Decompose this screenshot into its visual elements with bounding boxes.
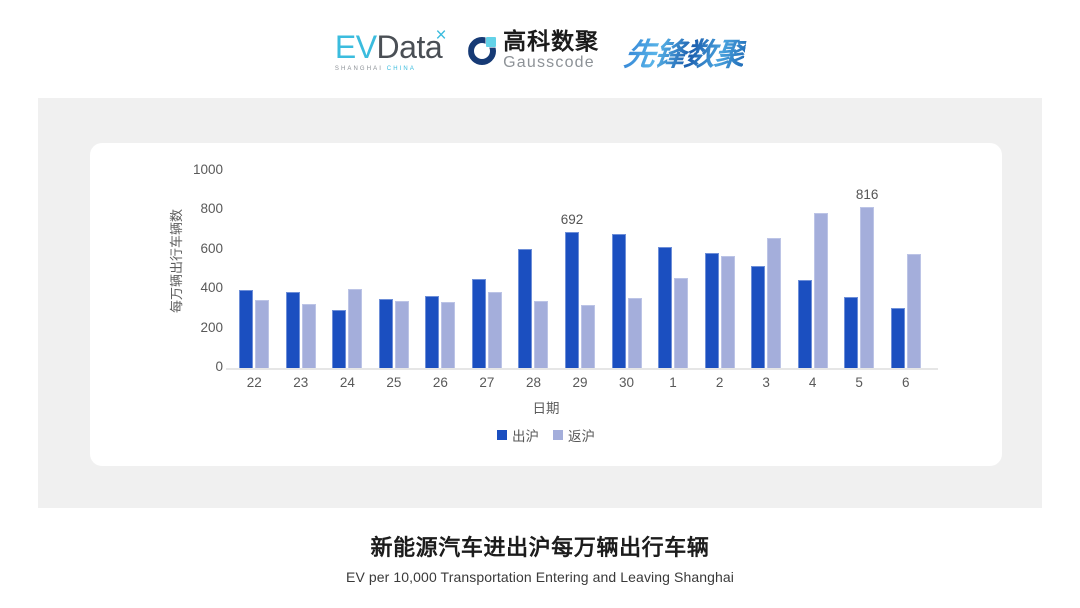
bar-groups: 692816 — [231, 171, 929, 368]
bar-fanhu[interactable] — [302, 304, 316, 368]
evdata-logo: EVData× SHANGHAI CHINA — [335, 31, 442, 72]
x-axis-tick: 2 — [697, 375, 743, 390]
gausscode-g-icon — [468, 37, 496, 65]
y-axis-label: 每万辆出行车辆数 — [166, 201, 186, 321]
y-axis-tick: 600 — [179, 241, 223, 256]
bar-group — [650, 171, 697, 368]
evdata-wordmark: EVData× — [335, 31, 442, 63]
x-axis-tick: 28 — [510, 375, 556, 390]
chart-legend: 出沪返沪 — [90, 425, 1002, 445]
gausscode-cn-text: 高科数聚 — [503, 31, 599, 54]
bar-fanhu[interactable] — [255, 300, 269, 368]
evdata-tagline-city: SHANGHAI — [335, 66, 387, 72]
bar-group — [882, 171, 929, 368]
bar-group — [278, 171, 325, 368]
legend-item[interactable]: 返沪 — [553, 425, 595, 445]
y-axis-tick: 400 — [179, 280, 223, 295]
bar-group — [231, 171, 278, 368]
gausscode-en-text: Gausscode — [503, 55, 599, 71]
figure-caption: 新能源汽车进出沪每万辆出行车辆 EV per 10,000 Transporta… — [0, 530, 1080, 585]
bar-fanhu[interactable] — [628, 298, 642, 368]
bar-chuhu[interactable] — [844, 297, 858, 369]
x-axis-tick: 6 — [883, 375, 929, 390]
bar-value-label: 692 — [561, 212, 584, 227]
bar-fanhu[interactable] — [814, 213, 828, 368]
bar-chuhu[interactable] — [705, 253, 719, 368]
bar-group — [371, 171, 418, 368]
x-axis-tick: 27 — [464, 375, 510, 390]
bar-group: 816 — [836, 171, 883, 368]
caption-title-en: EV per 10,000 Transportation Entering an… — [0, 569, 1080, 585]
gausscode-dot-shape — [486, 37, 496, 47]
bar-fanhu[interactable] — [721, 256, 735, 368]
y-axis-tick: 1000 — [179, 162, 223, 177]
bar-fanhu[interactable] — [348, 289, 362, 368]
bar-group — [696, 171, 743, 368]
y-axis-tick: 0 — [179, 359, 223, 374]
chart-plot-area: 每万辆出行车辆数 10008006004002000 692816 222324… — [90, 143, 1002, 466]
bar-chuhu[interactable] — [658, 247, 672, 368]
legend-swatch — [497, 430, 507, 440]
bar-group — [324, 171, 371, 368]
y-axis-tick: 200 — [179, 320, 223, 335]
bar-chuhu[interactable] — [286, 292, 300, 368]
x-axis-tick: 1 — [650, 375, 696, 390]
legend-label: 出沪 — [512, 425, 539, 445]
x-axis-tick: 30 — [604, 375, 650, 390]
xianfeng-logo: 先锋数聚 — [625, 29, 745, 74]
x-axis-label: 日期 — [90, 397, 1002, 417]
bar-fanhu[interactable] — [534, 301, 548, 368]
x-axis-tick: 5 — [836, 375, 882, 390]
bars-container: 692816 — [231, 171, 929, 368]
caption-title-cn: 新能源汽车进出沪每万辆出行车辆 — [0, 530, 1080, 562]
x-axis-baseline — [226, 368, 938, 370]
legend-item[interactable]: 出沪 — [497, 425, 539, 445]
evdata-data-text: Data — [377, 29, 443, 65]
x-axis-tick: 25 — [371, 375, 417, 390]
gausscode-wordmark: 高科数聚 Gausscode — [503, 31, 599, 71]
x-axis-tick: 29 — [557, 375, 603, 390]
x-axis-tick: 24 — [324, 375, 370, 390]
bar-group — [603, 171, 650, 368]
bar-chuhu[interactable] — [332, 310, 346, 368]
x-axis-tick: 3 — [743, 375, 789, 390]
y-axis-tick: 800 — [179, 201, 223, 216]
chart-card: 每万辆出行车辆数 10008006004002000 692816 222324… — [90, 143, 1002, 466]
bar-chuhu[interactable]: 692 — [565, 232, 579, 368]
legend-label: 返沪 — [568, 425, 595, 445]
bar-chuhu[interactable] — [518, 249, 532, 368]
bar-fanhu[interactable] — [767, 238, 781, 368]
bar-group — [789, 171, 836, 368]
logo-header: EVData× SHANGHAI CHINA 高科数聚 Gausscode 先锋… — [0, 22, 1080, 80]
evdata-tagline-country: CHINA — [387, 66, 416, 72]
x-axis-tick: 26 — [417, 375, 463, 390]
legend-swatch — [553, 430, 563, 440]
x-axis-tick: 4 — [790, 375, 836, 390]
bar-fanhu[interactable]: 816 — [860, 207, 874, 368]
bar-chuhu[interactable] — [379, 299, 393, 368]
bar-value-label: 816 — [856, 187, 879, 202]
bar-fanhu[interactable] — [581, 305, 595, 368]
bar-chuhu[interactable] — [891, 308, 905, 368]
bar-chuhu[interactable] — [425, 296, 439, 368]
bar-chuhu[interactable] — [612, 234, 626, 368]
bar-group — [417, 171, 464, 368]
gausscode-logo: 高科数聚 Gausscode — [468, 31, 599, 71]
bar-group: 692 — [557, 171, 604, 368]
x-axis-tick: 23 — [278, 375, 324, 390]
x-axis-tick: 22 — [231, 375, 277, 390]
evdata-tagline: SHANGHAI CHINA — [335, 66, 416, 72]
bar-fanhu[interactable] — [395, 301, 409, 368]
bar-chuhu[interactable] — [798, 280, 812, 368]
bar-group — [464, 171, 511, 368]
bar-chuhu[interactable] — [239, 290, 253, 368]
bar-fanhu[interactable] — [674, 278, 688, 368]
bar-chuhu[interactable] — [751, 266, 765, 368]
bar-fanhu[interactable] — [488, 292, 502, 368]
bar-fanhu[interactable] — [907, 254, 921, 368]
xianfeng-cn-text: 先锋数聚 — [622, 29, 748, 74]
bar-group — [743, 171, 790, 368]
bar-fanhu[interactable] — [441, 302, 455, 368]
bar-chuhu[interactable] — [472, 279, 486, 368]
cross-icon: × — [436, 26, 447, 45]
bar-group — [510, 171, 557, 368]
evdata-ev-text: EV — [335, 29, 377, 65]
